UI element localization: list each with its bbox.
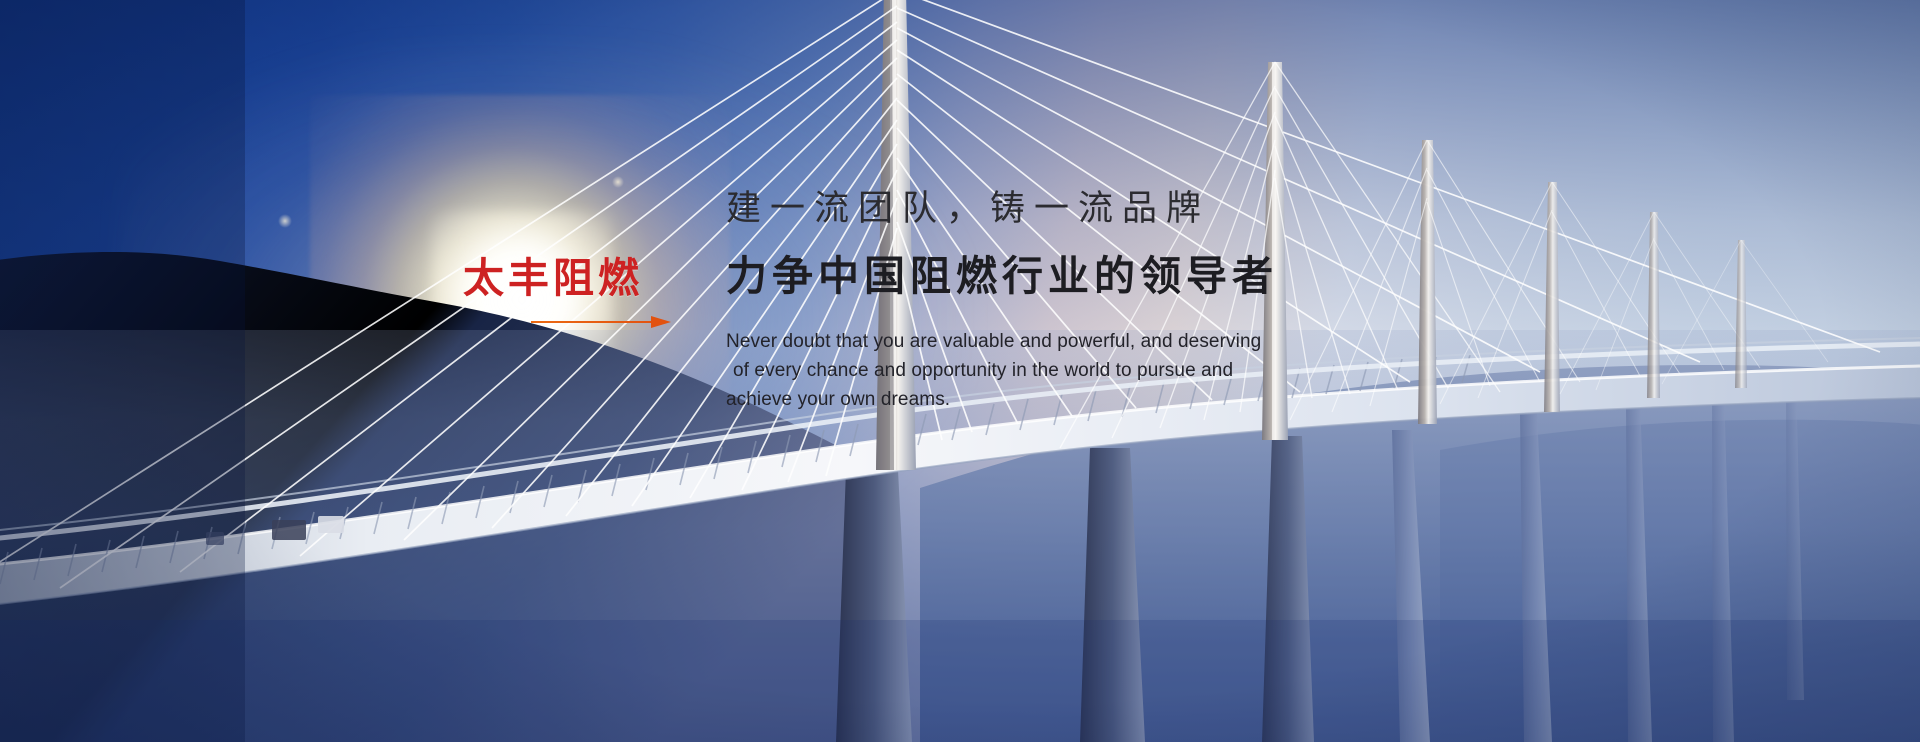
paragraph-line-2: of every chance and opportunity in the w…	[726, 356, 1346, 385]
paragraph-line-3: achieve your own dreams.	[726, 385, 1346, 414]
arrow-line	[531, 321, 657, 323]
paragraph-line-1: Never doubt that you are valuable and po…	[726, 327, 1346, 356]
hero-copy-block: 建一流团队，铸一流品牌 力争中国阻燃行业的领导者 Never doubt tha…	[726, 189, 1346, 414]
hero-paragraph: Never doubt that you are valuable and po…	[726, 327, 1346, 414]
headline-small: 建一流团队，铸一流品牌	[726, 189, 1346, 230]
hero-banner: 太丰阻燃 建一流团队，铸一流品牌 力争中国阻燃行业的领导者 Never doub…	[0, 0, 1920, 742]
brand-logo-text: 太丰阻燃	[463, 258, 683, 299]
headline-large: 力争中国阻燃行业的领导者	[726, 252, 1346, 300]
arrow-head	[651, 316, 671, 328]
arrow-right-icon	[531, 316, 677, 328]
brand-logo[interactable]: 太丰阻燃	[463, 258, 683, 328]
